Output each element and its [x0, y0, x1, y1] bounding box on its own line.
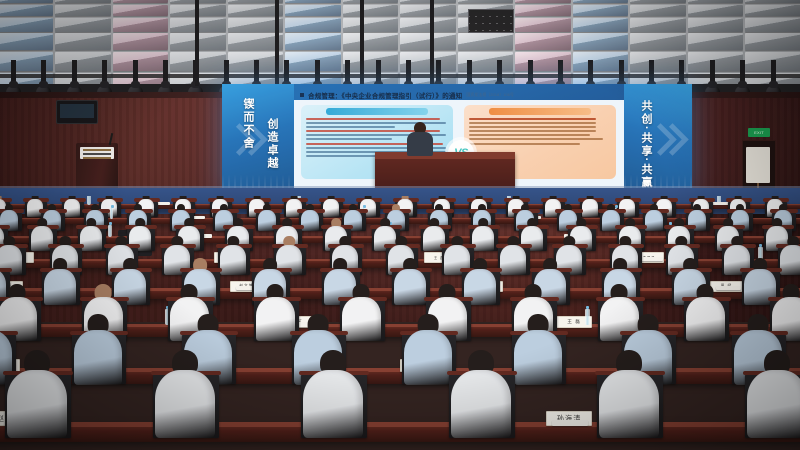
slide-text-line [469, 118, 596, 120]
slide-text-line [469, 126, 596, 128]
slide-text-line [306, 138, 392, 140]
desk-paper [640, 257, 663, 261]
ceiling-baffle [0, 18, 53, 32]
ceiling-baffle [458, 33, 514, 50]
attendee-torso [451, 370, 511, 438]
audience-attendee [74, 314, 122, 389]
attendee-torso [394, 269, 426, 305]
attendee-torso [44, 269, 76, 305]
audience-attendee [500, 236, 526, 277]
slide-text-line [306, 118, 440, 120]
ceiling-baffle-row [0, 18, 800, 32]
ceiling-baffle [343, 33, 399, 50]
audience-attendee [7, 350, 67, 444]
right-panel-header-bar [489, 108, 591, 115]
ceiling-baffle [400, 0, 456, 3]
attendee-torso [303, 370, 363, 438]
ceiling-baffle [55, 5, 111, 17]
attendee-torso [747, 370, 800, 438]
ceiling-baffle [113, 5, 169, 17]
truss-support-pole [195, 0, 199, 86]
ceiling-baffle [400, 33, 456, 50]
audience-attendee [301, 204, 320, 233]
ceiling-baffle [573, 18, 629, 32]
screen-left-banner: 锲而不舍 创造卓越 [222, 84, 294, 196]
audience-attendee [582, 196, 598, 218]
ceiling-baffle [630, 33, 686, 50]
attendee-torso [155, 370, 215, 438]
audience-attendee [155, 350, 215, 444]
ceiling-baffle [688, 0, 744, 3]
ceiling-baffle [0, 33, 53, 50]
wall-monitor [56, 100, 98, 124]
ceiling-baffle [55, 18, 111, 32]
attendee-torso [599, 370, 659, 438]
whiteboard [746, 147, 770, 183]
slide-text-line [469, 134, 590, 136]
truss-support-pole [275, 0, 279, 86]
attendee-torso [514, 330, 562, 384]
ceiling-baffle [688, 33, 744, 50]
left-panel-header-bar [326, 108, 428, 115]
exit-sign-label: EXIT [754, 130, 764, 135]
audience-attendee [780, 236, 800, 277]
audience-attendee [44, 258, 76, 308]
audience-attendee [451, 350, 511, 444]
conference-room-photo: EXIT 锲而不舍 创造卓越 合规管理：《中央企业合规管理指引（试行）》的通知 … [0, 0, 800, 450]
ceiling-baffle [343, 18, 399, 32]
attendee-torso [582, 199, 598, 217]
ceiling-baffle [55, 33, 111, 50]
audience-attendee [404, 314, 452, 389]
ceiling-baffle [630, 52, 686, 71]
slide-text-line [469, 138, 603, 140]
ceiling-baffle [0, 5, 53, 17]
ceiling-baffle [515, 18, 571, 32]
truss-support-pole [360, 0, 364, 86]
ceiling-baffle [745, 0, 800, 3]
ceiling-baffle [285, 0, 341, 3]
attendee-torso [780, 245, 800, 275]
ceiling-baffle [343, 52, 399, 71]
ceiling-baffle [400, 18, 456, 32]
audience-attendee [472, 218, 494, 253]
ceiling-baffle [343, 5, 399, 17]
audience-attendee [514, 314, 562, 389]
slide-text-line [469, 143, 580, 145]
ceiling-baffle [458, 0, 514, 3]
water-bottle [110, 208, 114, 219]
left-banner-text-2: 创造卓越 [264, 118, 280, 170]
slide-title-note: 国资发法规〔2018〕106号 [466, 92, 514, 98]
ceiling-baffle [630, 18, 686, 32]
audience-attendee [342, 284, 381, 345]
attendee-torso [645, 210, 664, 231]
ceiling-baffle [745, 5, 800, 17]
attendee-torso [342, 297, 381, 341]
ceiling-baffle [515, 33, 571, 50]
audience-attendee [645, 204, 664, 233]
ceiling-baffle [285, 33, 341, 50]
ceiling-baffle [515, 5, 571, 17]
podium-emblem [80, 147, 114, 159]
audience-attendee [394, 258, 426, 308]
ceiling-baffle [285, 52, 341, 71]
ceiling-baffle [400, 5, 456, 17]
ceiling-baffle [0, 0, 53, 3]
ceiling-baffle [630, 0, 686, 3]
audience-attendee [64, 196, 80, 218]
exit-sign: EXIT [748, 128, 770, 137]
audience-attendee [686, 284, 725, 345]
attendee-torso [686, 297, 725, 341]
ceiling-baffle-row [0, 5, 800, 17]
audience-area: 张 敏刘建军王 磊李国强陈 颖赵文博孙海涛周 斌张 敏刘建军王 磊李国强陈 颖赵… [0, 196, 800, 450]
audience-attendee [256, 284, 295, 345]
slide-text-line [469, 130, 596, 132]
audience-attendee [323, 196, 339, 218]
ceiling-baffle [688, 52, 744, 71]
slide-text-line [306, 126, 395, 128]
ceiling-baffle [573, 5, 629, 17]
ceiling-baffle [688, 18, 744, 32]
left-banner-text-1: 锲而不舍 [240, 98, 256, 150]
ceiling-baffle [285, 5, 341, 17]
attendee-torso [323, 199, 339, 217]
ceiling-baffle [113, 52, 169, 71]
bullet-square-icon [300, 93, 304, 97]
right-panel-lines [469, 118, 611, 145]
attendee-torso [500, 245, 526, 275]
desk-paper [552, 420, 588, 426]
ceiling-baffle-row [0, 0, 800, 3]
desk-name-card-label: 王 磊 [567, 319, 581, 325]
truss-support-pole [430, 0, 434, 86]
ceiling-baffle-row [0, 33, 800, 50]
ceiling-baffle [688, 5, 744, 17]
ceiling-baffle [745, 33, 800, 50]
audience-attendee [80, 218, 102, 253]
ceiling-air-vent [468, 9, 514, 33]
ceiling-baffle [113, 33, 169, 50]
attendee-torso [64, 199, 80, 217]
ceiling-baffle [113, 18, 169, 32]
ceiling-baffle [515, 0, 571, 3]
ceiling-baffle [113, 0, 169, 3]
attendee-torso [256, 297, 295, 341]
water-bottle [585, 309, 590, 325]
ceiling-baffle [573, 33, 629, 50]
attendee-torso [404, 330, 452, 384]
audience-attendee [303, 350, 363, 444]
attendee-torso [74, 330, 122, 384]
audience-attendee [220, 236, 246, 277]
ceiling-baffle [285, 18, 341, 32]
audience-attendee [599, 350, 659, 444]
attendee-torso [220, 245, 246, 275]
attendee-torso [7, 370, 67, 438]
presenter-person [407, 122, 433, 154]
slide-title: 合规管理：《中央企业合规管理指引（试行）》的通知 [308, 90, 462, 100]
screen-right-banner: 共创·共享·共赢 [624, 84, 692, 196]
slide-text-line [469, 122, 596, 124]
audience-attendee [747, 350, 800, 444]
ceiling-baffle [630, 5, 686, 17]
ceiling-baffle [55, 0, 111, 3]
ceiling-baffle [573, 0, 629, 3]
ceiling-baffle [343, 0, 399, 3]
audience-desk-row [0, 422, 800, 442]
ceiling-baffle [745, 18, 800, 32]
